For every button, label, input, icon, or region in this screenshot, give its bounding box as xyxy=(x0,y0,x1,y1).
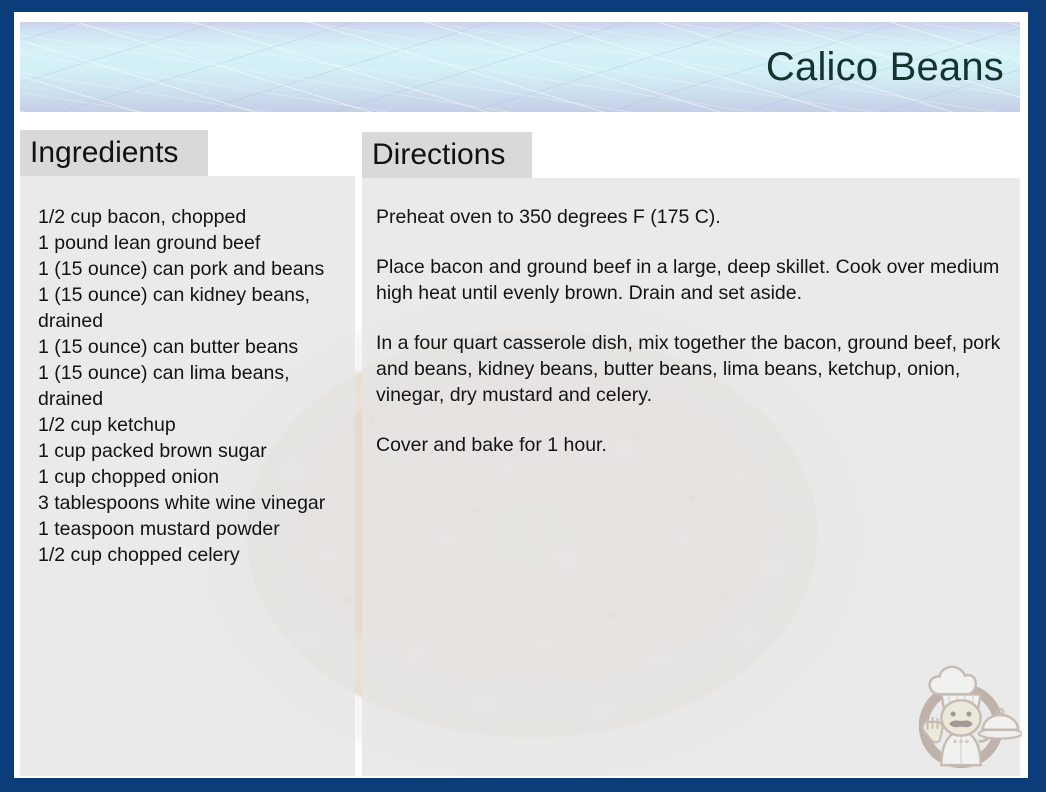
direction-steps: Preheat oven to 350 degrees F (175 C). P… xyxy=(376,204,1006,458)
ingredients-heading-label: Ingredients xyxy=(30,138,178,168)
title-banner: Calico Beans xyxy=(20,22,1020,112)
direction-step: Preheat oven to 350 degrees F (175 C). xyxy=(376,204,1006,230)
direction-step: Place bacon and ground beef in a large, … xyxy=(376,254,1006,306)
directions-header: Directions xyxy=(362,132,532,178)
recipe-title: Calico Beans xyxy=(766,47,1004,87)
list-item: 1 (15 ounce) can kidney beans, drained xyxy=(38,282,349,334)
list-item: 1 (15 ounce) can pork and beans xyxy=(38,256,349,282)
direction-step: Cover and bake for 1 hour. xyxy=(376,432,1006,458)
ingredients-header: Ingredients xyxy=(20,130,208,176)
ingredient-list: 1/2 cup bacon, chopped 1 pound lean grou… xyxy=(38,204,349,568)
list-item: 1 teaspoon mustard powder xyxy=(38,516,349,542)
list-item: 1 cup packed brown sugar xyxy=(38,438,349,464)
list-item: 1/2 cup ketchup xyxy=(38,412,349,438)
list-item: 3 tablespoons white wine vinegar xyxy=(38,490,349,516)
direction-step: In a four quart casserole dish, mix toge… xyxy=(376,330,1006,408)
directions-heading-label: Directions xyxy=(372,140,505,170)
recipe-card: Calico Beans Ingredients 1/2 cup bacon, … xyxy=(0,0,1046,792)
ingredients-panel: 1/2 cup bacon, chopped 1 pound lean grou… xyxy=(20,176,355,776)
list-item: 1 cup chopped onion xyxy=(38,464,349,490)
list-item: 1 pound lean ground beef xyxy=(38,230,349,256)
list-item: 1/2 cup bacon, chopped xyxy=(38,204,349,230)
list-item: 1/2 cup chopped celery xyxy=(38,542,349,568)
list-item: 1 (15 ounce) can butter beans xyxy=(38,334,349,360)
chef-mascot-icon xyxy=(904,654,1022,774)
list-item: 1 (15 ounce) can lima beans, drained xyxy=(38,360,349,412)
card-sheet: Calico Beans Ingredients 1/2 cup bacon, … xyxy=(14,12,1028,778)
